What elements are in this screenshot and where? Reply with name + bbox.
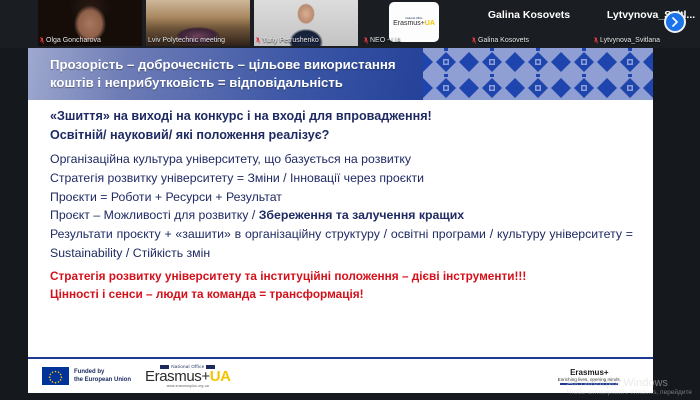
erasmus-ua-suffix: UA	[210, 368, 231, 385]
microphone-muted-icon	[594, 37, 598, 44]
erasmus-wordmark: Erasmus+UA	[145, 369, 231, 384]
eu-flag-icon	[42, 367, 69, 385]
slide-footer: Funded by the European Union National Of…	[28, 357, 653, 393]
participant-name-text: Yuriy Petrushenko	[262, 37, 319, 44]
funded-line-1: Funded by	[74, 368, 131, 376]
microphone-muted-icon	[364, 37, 368, 44]
participant-name-text: Lviv Polytechnic meeting	[148, 37, 225, 44]
microphone-muted-icon	[40, 37, 44, 44]
slide-body: «Зшиття» на виході на конкурс і на вході…	[28, 100, 653, 304]
slide-banner: Прозорість – доброчесність – цільове вик…	[28, 48, 653, 100]
participant-name-badge: Yuriy Petrushenko	[254, 34, 358, 46]
slide-red-line-1: Стратегія розвитку університету та інсти…	[50, 268, 633, 286]
screen: Olga Goncharova Lviv Polytechnic meeting…	[0, 0, 700, 400]
chevron-right-icon	[670, 17, 680, 27]
participant-name-badge: Lytvynova_Svitlana	[592, 34, 700, 46]
participant-filmstrip: Olga Goncharova Lviv Polytechnic meeting…	[0, 0, 700, 48]
mixed-line-bold: Збереження та залучення кращих	[259, 208, 464, 222]
participant-name-badge: NEO - UA	[362, 34, 466, 46]
participant-tile-galina-kosovets[interactable]: Galina Kosovets Galina Kosovets	[470, 0, 588, 46]
slide-body-line-3: Проєкти = Роботи + Ресурси + Результат	[50, 188, 633, 207]
slide-heading-line-1: «Зшиття» на виході на конкурс і на вході…	[50, 107, 633, 126]
erasmus-name: Erasmus+	[145, 368, 210, 385]
slide-banner-title: Прозорість – доброчесність – цільове вик…	[28, 56, 396, 92]
participant-display-name: Galina Kosovets	[488, 9, 570, 21]
erasmus-url: www.erasmusplus.org.ua	[167, 384, 209, 388]
participant-name-text: NEO - UA	[370, 37, 401, 44]
participant-tile-yuriy-petrushenko[interactable]: Yuriy Petrushenko	[254, 0, 358, 46]
eu-funding-label: Funded by the European Union	[74, 368, 131, 384]
erasmus-ua-logo: National Office Erasmus+UA www.erasmuspl…	[145, 364, 231, 388]
erasmus-plus-underline	[560, 383, 618, 385]
participant-name-badge: Galina Kosovets	[470, 34, 588, 46]
funded-line-2: the European Union	[74, 376, 131, 384]
next-participants-button[interactable]	[664, 11, 686, 33]
participant-name-text: Lytvynova_Svitlana	[600, 37, 660, 44]
microphone-muted-icon	[256, 37, 260, 44]
slide-body-line-1: Організаційна культура університету, що …	[50, 150, 633, 169]
slide-red-line-2: Цінності і сенси – люди та команда = тра…	[50, 286, 633, 304]
participant-name-text: Galina Kosovets	[478, 37, 529, 44]
slide-paragraph: Результати проєкту + «зашити» в організа…	[50, 225, 633, 262]
erasmus-plus-logo: Erasmus+ Enriching lives, opening minds.	[558, 368, 621, 385]
erasmus-plus-name: Erasmus+	[570, 368, 608, 377]
slide-heading-line-2: Освітній/ науковий/ які положення реаліз…	[50, 126, 633, 145]
banner-line-2: коштів і неприбутковість = відповідальні…	[50, 74, 396, 92]
presentation-slide: Прозорість – доброчесність – цільове вик…	[28, 48, 653, 393]
participant-tile-lviv-polytechnic-meeting[interactable]: Lviv Polytechnic meeting	[146, 0, 250, 46]
erasmus-plus-tagline: Enriching lives, opening minds.	[558, 377, 621, 382]
microphone-muted-icon	[472, 37, 476, 44]
participant-name-text: Olga Goncharova	[46, 37, 101, 44]
slide-body-line-2: Стратегія розвитку університету = Зміни …	[50, 169, 633, 188]
participant-tile-olga-goncharova[interactable]: Olga Goncharova	[38, 0, 142, 46]
mixed-line-normal: Проєкт – Можливості для розвитку /	[50, 208, 259, 222]
participant-name-badge: Lviv Polytechnic meeting	[146, 34, 250, 46]
slide-body-line-4: Проєкт – Можливості для розвитку / Збере…	[50, 206, 633, 225]
banner-line-1: Прозорість – доброчесність – цільове вик…	[50, 56, 396, 74]
participant-tile-neo-ua[interactable]: National Office Erasmus+UA NEO - UA	[362, 0, 466, 46]
participant-name-badge: Olga Goncharova	[38, 34, 142, 46]
vyshyvanka-pattern-icon	[423, 48, 653, 100]
